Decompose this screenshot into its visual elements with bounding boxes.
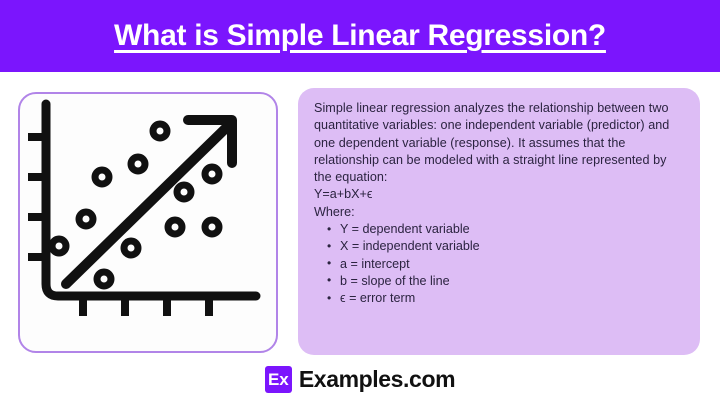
logo-wordmark: Examples.com (299, 366, 455, 393)
where-label: Where: (314, 204, 684, 221)
list-item: X = independent variable (340, 238, 684, 255)
data-points (52, 124, 219, 286)
list-item: Y = dependent variable (340, 221, 684, 238)
scatter-plot-icon (20, 94, 276, 351)
examples-logo-icon: Ex (265, 366, 292, 393)
list-item: a = intercept (340, 256, 684, 273)
info-panel: Simple linear regression analyzes the re… (298, 88, 700, 355)
list-item: b = slope of the line (340, 273, 684, 290)
page-title: What is Simple Linear Regression? (114, 19, 606, 53)
list-item: ϵ = error term (340, 290, 684, 307)
footer-logo: Ex Examples.com (0, 366, 720, 393)
header-banner: What is Simple Linear Regression? (0, 0, 720, 72)
equation-text: Y=a+bX+ϵ (314, 186, 684, 203)
regression-trend-arrow (66, 120, 232, 284)
definitions-list: Y = dependent variable X = independent v… (314, 221, 684, 307)
scatter-plot-card (18, 92, 278, 353)
intro-paragraph: Simple linear regression analyzes the re… (314, 100, 684, 186)
x-axis-ticks (83, 300, 209, 316)
